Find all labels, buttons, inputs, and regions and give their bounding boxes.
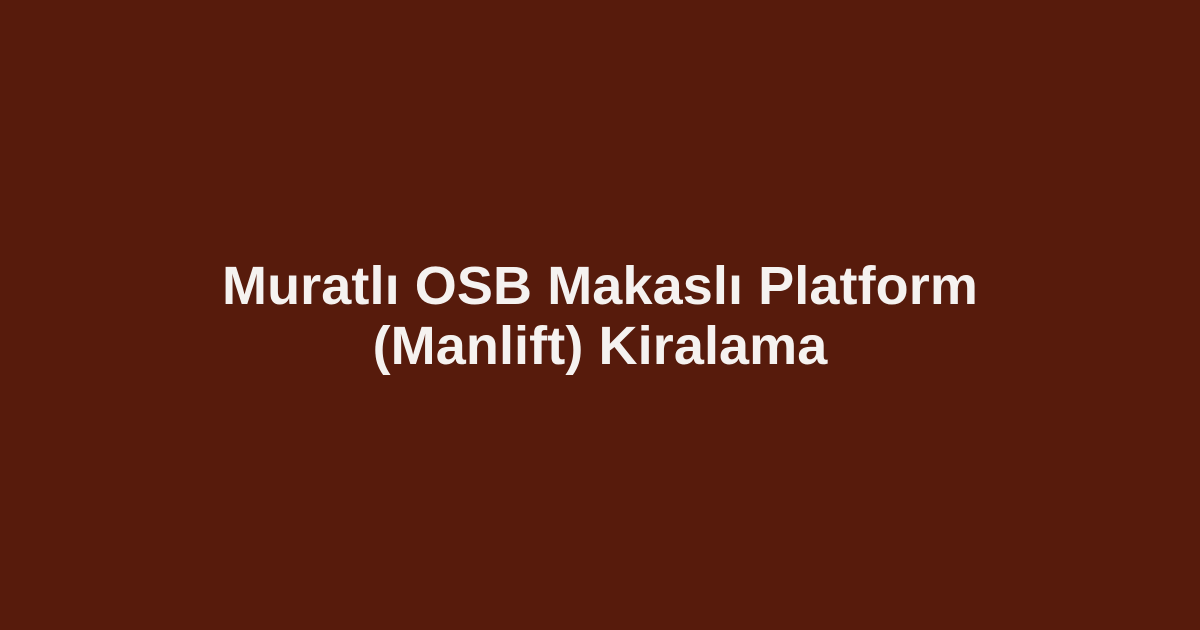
- og-image-card: Muratlı OSB Makaslı Platform (Manlift) K…: [0, 0, 1200, 630]
- title-block: Muratlı OSB Makaslı Platform (Manlift) K…: [100, 256, 1100, 376]
- page-title: Muratlı OSB Makaslı Platform (Manlift) K…: [140, 256, 1060, 376]
